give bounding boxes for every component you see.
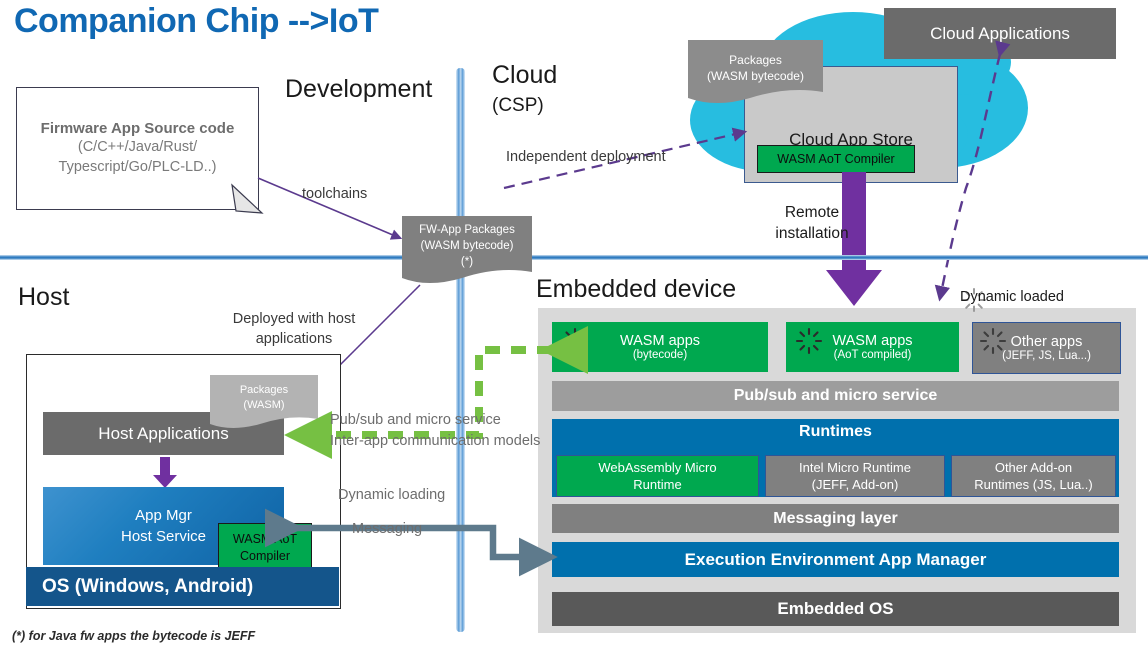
cloud-wasm-aot-compiler[interactable]: WASM AoT Compiler: [757, 145, 915, 173]
embedded-app-2-sub: (AoT compiled): [834, 349, 912, 361]
runtime-2-line2: (JEFF, Add-on): [812, 476, 899, 493]
fw-app-packages-note: FW-App Packages (WASM bytecode) (*): [402, 216, 532, 285]
zone-heading-cloud: Cloud: [492, 61, 557, 90]
footnote: (*) for Java fw apps the bytecode is JEF…: [12, 629, 255, 643]
firmware-langs-line2: (C/C++/Java/Rust/: [78, 137, 197, 157]
dynamic-loading-label: Dynamic loading: [338, 487, 445, 503]
runtime-3-line2: Runtimes (JS, Lua..): [974, 476, 1093, 493]
firmware-source-box[interactable]: Firmware App Source code (C/C++/Java/Rus…: [16, 87, 259, 210]
pubsub-micro-service-bar[interactable]: Pub/sub and micro service: [552, 381, 1119, 411]
runtime-1-line1: WebAssembly Micro: [598, 459, 716, 476]
cloud-packages-text: Packages (WASM bytecode): [688, 46, 823, 90]
firmware-title: Firmware App Source code: [41, 120, 235, 137]
runtimes-header: Runtimes: [799, 419, 872, 441]
cloud-packages-note: Packages (WASM bytecode): [688, 40, 823, 106]
runtime-box-1[interactable]: WebAssembly Micro Runtime: [556, 455, 759, 497]
runtime-box-2[interactable]: Intel Micro Runtime (JEFF, Add-on): [765, 455, 945, 497]
embedded-app-2-name: WASM apps: [832, 333, 912, 349]
toolchains-label: toolchains: [302, 186, 367, 202]
horizontal-divider: [0, 255, 1148, 260]
zone-heading-development: Development: [285, 75, 432, 104]
remote-installation-label: Remote installation: [762, 202, 862, 244]
host-aot-line2: Compiler: [240, 548, 290, 565]
app-mgr-line2: Host Service: [121, 526, 206, 547]
messaging-layer-bar[interactable]: Messaging layer: [552, 504, 1119, 533]
host-os-bar[interactable]: OS (Windows, Android): [26, 567, 339, 606]
embedded-app-1-sub: (bytecode): [633, 349, 687, 361]
embedded-os-bar[interactable]: Embedded OS: [552, 592, 1119, 626]
cloud-apps-to-device-arrow: [930, 40, 1050, 310]
app-mgr-line1: App Mgr: [135, 505, 192, 526]
spinner-icon: [796, 328, 822, 354]
runtime-1-line2: Runtime: [633, 476, 681, 493]
embedded-app-3-name: Other apps: [1011, 334, 1083, 350]
firmware-langs-line3: Typescript/Go/PLC-LD..): [59, 157, 217, 177]
zone-heading-embedded: Embedded device: [536, 275, 736, 304]
messaging-label: Messaging: [352, 521, 422, 537]
host-down-arrow: [152, 457, 178, 489]
spinner-icon: [980, 328, 1006, 354]
dynamic-loaded-label: Dynamic loaded: [960, 289, 1064, 305]
fw-app-packages-text: FW-App Packages (WASM bytecode) (*): [402, 220, 532, 272]
embedded-app-3-sub: (JEFF, JS, Lua...): [1002, 350, 1091, 362]
execution-environment-app-manager-bar[interactable]: Execution Environment App Manager: [552, 542, 1119, 577]
independent-deployment-label: Independent deployment: [506, 149, 666, 165]
pubsub-inter-app-label: Pub/sub and micro service Inter-app comm…: [330, 410, 540, 452]
zone-heading-host: Host: [18, 283, 69, 312]
zone-heading-cloud-sub: (CSP): [492, 95, 544, 117]
runtime-3-line1: Other Add-on: [995, 459, 1072, 476]
runtime-box-3[interactable]: Other Add-on Runtimes (JS, Lua..): [951, 455, 1116, 497]
embedded-app-1-name: WASM apps: [620, 333, 700, 349]
runtime-2-line1: Intel Micro Runtime: [799, 459, 911, 476]
page-title: Companion Chip -->IoT: [14, 2, 378, 41]
